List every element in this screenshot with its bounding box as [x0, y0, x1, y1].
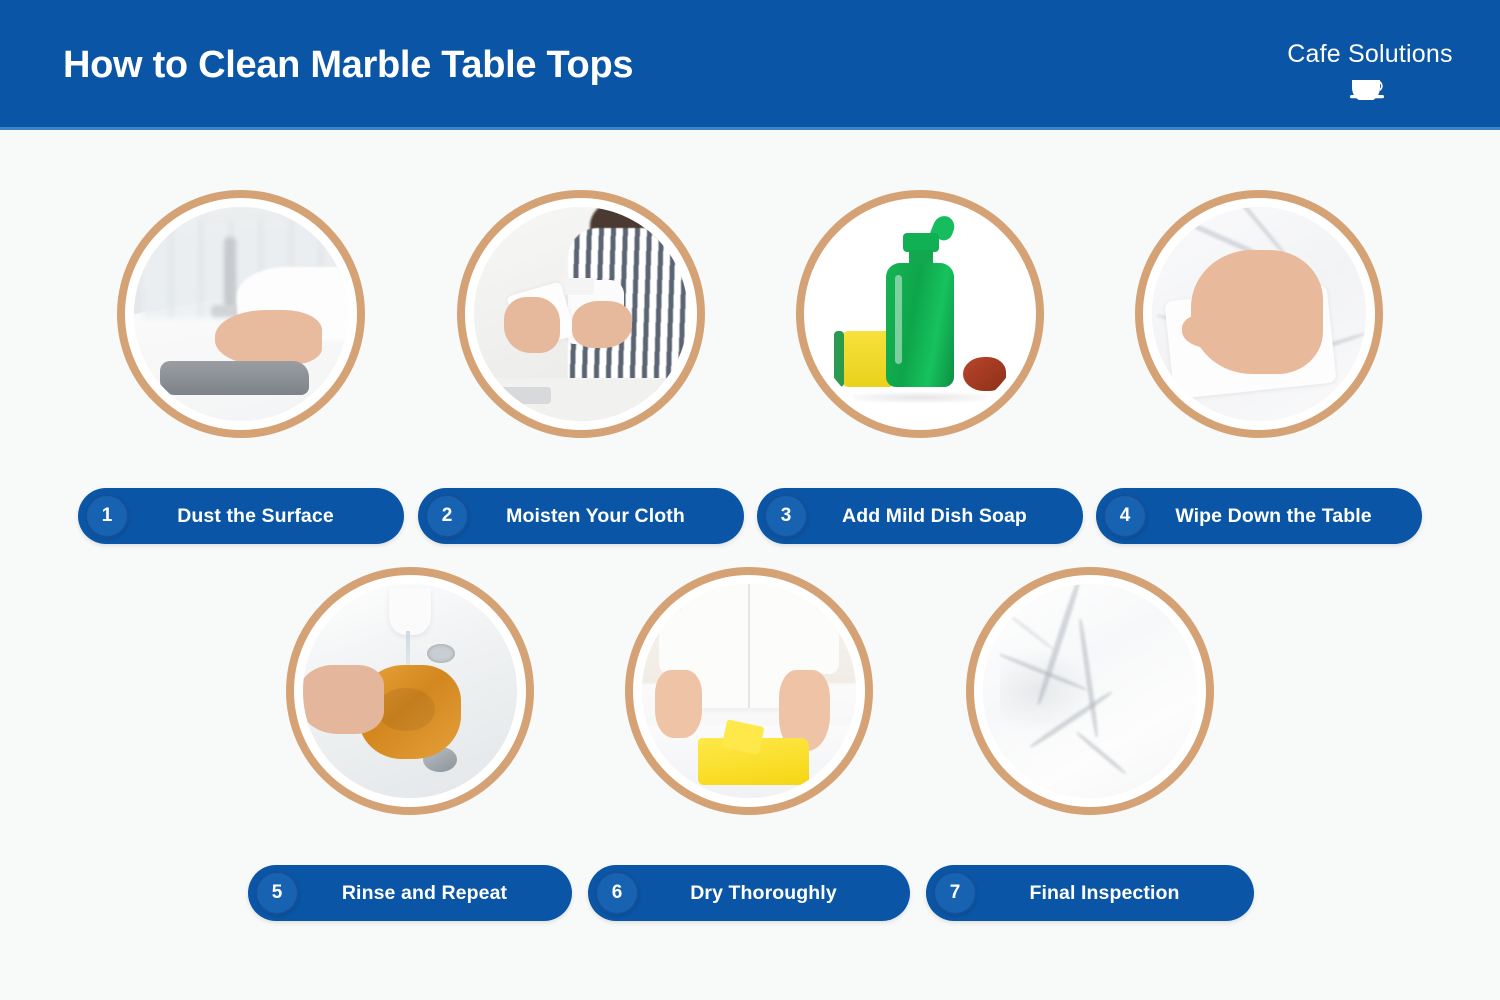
- step-2-image: [474, 207, 688, 421]
- step-5-image-frame: [286, 567, 534, 815]
- step-6-label-pill[interactable]: 6 Dry Thoroughly: [588, 865, 910, 921]
- step-5-number-badge: 5: [257, 873, 297, 913]
- step-1-image-frame: [117, 190, 365, 438]
- step-3-label: Add Mild Dish Soap: [806, 505, 1083, 528]
- step-5-image: [303, 584, 517, 798]
- step-7-image-frame: [966, 567, 1214, 815]
- step-2-number-badge: 2: [427, 496, 467, 536]
- step-4-label-pill[interactable]: 4 Wipe Down the Table: [1096, 488, 1422, 544]
- step-3-image: [813, 207, 1027, 421]
- step-3-label-pill[interactable]: 3 Add Mild Dish Soap: [757, 488, 1083, 544]
- step-1-label-pill[interactable]: 1 Dust the Surface: [78, 488, 404, 544]
- coffee-cup-icon: [1348, 76, 1392, 100]
- brand-logo[interactable]: Cafe Solutions: [1280, 26, 1460, 106]
- step-3-number-badge: 3: [766, 496, 806, 536]
- step-7-label-pill[interactable]: 7 Final Inspection: [926, 865, 1254, 921]
- step-1-image: [134, 207, 348, 421]
- step-5-label-pill[interactable]: 5 Rinse and Repeat: [248, 865, 572, 921]
- step-4-label: Wipe Down the Table: [1145, 505, 1422, 528]
- step-6-number-badge: 6: [597, 873, 637, 913]
- step-2-label: Moisten Your Cloth: [467, 505, 744, 528]
- step-2-label-pill[interactable]: 2 Moisten Your Cloth: [418, 488, 744, 544]
- step-7-label: Final Inspection: [975, 882, 1254, 905]
- step-3-image-frame: [796, 190, 1044, 438]
- step-4-image: [1152, 207, 1366, 421]
- step-7-number-badge: 7: [935, 873, 975, 913]
- step-4-number-badge: 4: [1105, 496, 1145, 536]
- step-5-label: Rinse and Repeat: [297, 882, 572, 905]
- step-6-image: [642, 584, 856, 798]
- page-title: How to Clean Marble Table Tops: [63, 44, 633, 87]
- steps-row-top: 1 Dust the Surface 2 Moisten Your Cloth: [0, 190, 1500, 610]
- step-1-number-badge: 1: [87, 496, 127, 536]
- step-4-image-frame: [1135, 190, 1383, 438]
- brand-logo-text: Cafe Solutions: [1280, 40, 1460, 69]
- step-6-label: Dry Thoroughly: [637, 882, 910, 905]
- page-header: How to Clean Marble Table Tops Cafe Solu…: [0, 0, 1500, 130]
- steps-container: 1 Dust the Surface 2 Moisten Your Cloth: [0, 130, 1500, 1000]
- step-7-image: [983, 584, 1197, 798]
- step-6-image-frame: [625, 567, 873, 815]
- step-2-image-frame: [457, 190, 705, 438]
- steps-row-bottom: 5 Rinse and Repeat 6 Dry Thoroughly: [0, 567, 1500, 987]
- step-1-label: Dust the Surface: [127, 505, 404, 528]
